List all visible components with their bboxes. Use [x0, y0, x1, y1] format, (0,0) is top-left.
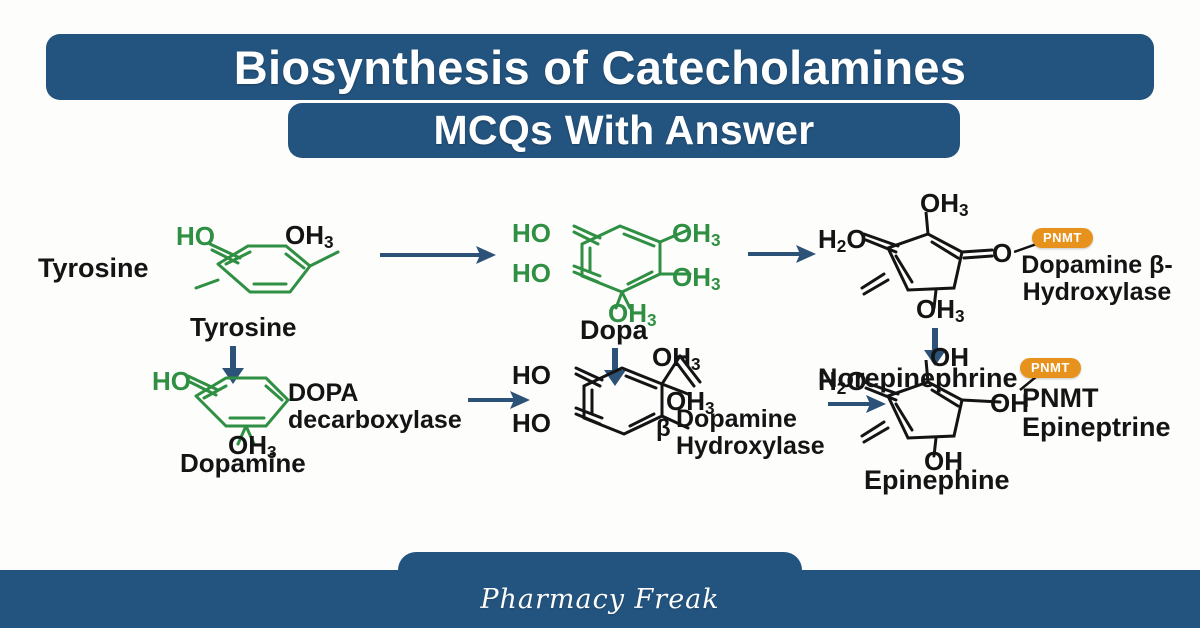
atom-label-ho: HO [512, 260, 551, 288]
enzyme-line-2: Epineptrine [1022, 412, 1171, 442]
atom-label-ho: HO [176, 223, 215, 251]
title-line-2: MCQs With Answer [433, 107, 814, 154]
atom-label-oh3: OH3 [672, 264, 721, 293]
atom-label-oh3: OH3 [916, 296, 965, 325]
footer-center-tab [398, 552, 802, 570]
atom-label-h2o: H2O [818, 226, 867, 255]
enzyme-dopa-decarboxylase: DOPA decarboxylase [288, 380, 462, 433]
caption-dopa: Dopa [580, 316, 648, 345]
footer-brand: Pharmacy Freak [0, 570, 1200, 628]
caption-dopamine: Dopamine [180, 450, 306, 478]
arrow-tyrosine-to-dopa [380, 240, 500, 270]
enzyme-line-1: PNMT [1022, 383, 1099, 413]
title-line-1: Biosynthesis of Catecholamines [234, 40, 966, 95]
pathway-diagram: Tyrosine HO OH3 Tyrosine [0, 178, 1200, 508]
beta-symbol: β [656, 416, 671, 441]
arrow-dopa-to-norepinephrine [748, 240, 820, 268]
enzyme-line-1: Dopamine β- [1021, 251, 1172, 279]
enzyme-dopamine-hydroxylase: Dopamine Hydroxylase [676, 406, 825, 459]
title-banner-secondary: MCQs With Answer [288, 103, 960, 158]
enzyme-line-2: Hydroxylase [1023, 278, 1172, 306]
enzyme-line-1: Dopamine [676, 405, 797, 433]
atom-label-oh3: OH3 [920, 190, 969, 219]
caption-tyrosine: Tyrosine [190, 314, 296, 342]
title-banner-primary: Biosynthesis of Catecholamines [46, 34, 1154, 100]
badge-pnmt: PNMT [1020, 358, 1081, 378]
caption-epinephrine: Epinephine [864, 466, 1010, 495]
poster-canvas: Biosynthesis of Catecholamines MCQs With… [0, 0, 1200, 628]
atom-label-oh3: OH3 [672, 220, 721, 249]
atom-label-oh: OH [930, 344, 969, 372]
atom-label-h2o: H2O [818, 368, 867, 397]
enzyme-line-2: Hydroxylase [676, 432, 825, 460]
enzyme-pnmt: PNMT Epineptrine [1022, 384, 1171, 441]
badge-pnmt: PNMT [1032, 228, 1093, 248]
atom-label-oh3: OH3 [652, 344, 701, 373]
enzyme-dopamine-beta-hydroxylase: Dopamine β- Hydroxylase [1002, 252, 1192, 305]
atom-label-ho: HO [512, 220, 551, 248]
enzyme-line-1: DOPA [288, 379, 358, 407]
enzyme-line-2: decarboxylase [288, 406, 462, 434]
pathway-input-label: Tyrosine [38, 254, 149, 283]
atom-label-oh3: OH3 [285, 222, 334, 251]
atom-label-ho: HO [152, 368, 191, 396]
atom-label-ho: HO [512, 362, 551, 390]
atom-label-ho: HO [512, 410, 551, 438]
